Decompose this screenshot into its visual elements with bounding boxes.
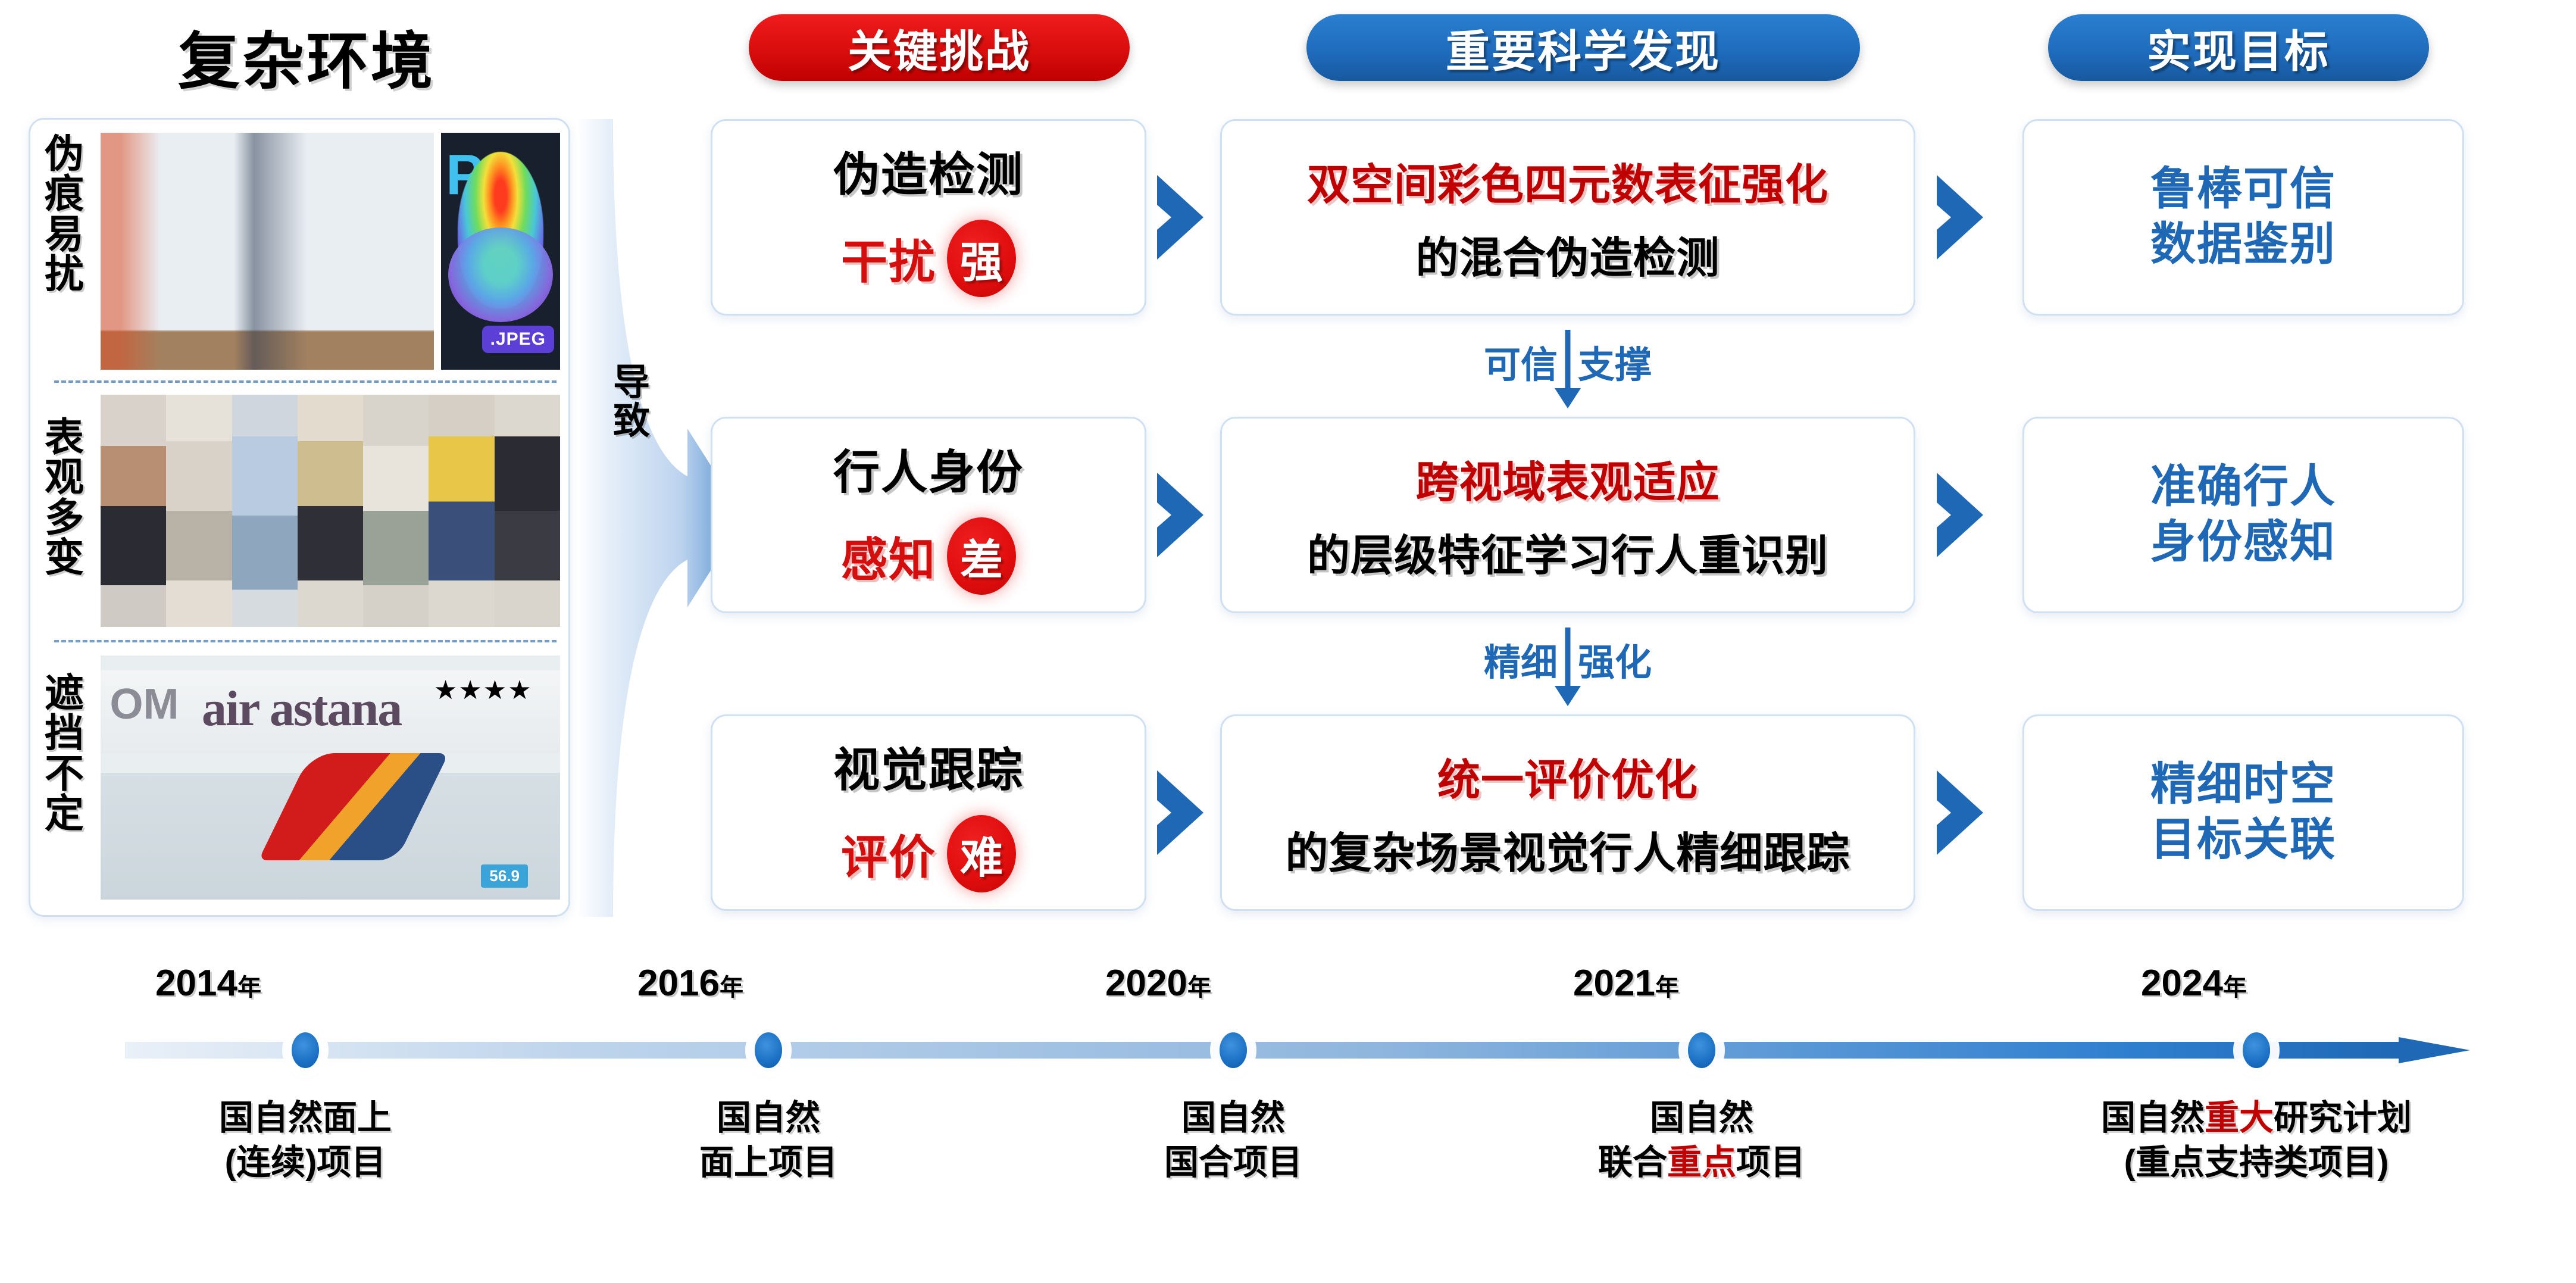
- timeline-desc-line2-pre-3: 联合: [1598, 1143, 1667, 1182]
- goal-card-1[interactable]: 准确行人 身份感知: [2022, 417, 2464, 613]
- discovery-card-2[interactable]: 统一评价优化 的复杂场景视觉行人精细跟踪: [1220, 714, 1915, 911]
- stars-icon: ★★★★: [434, 675, 533, 706]
- discovery-connector-0-text: 可信 支撑: [1401, 335, 1734, 388]
- timeline-desc-line1-4: 国自然重大研究计划: [2018, 1095, 2494, 1140]
- timeline-year-value-3: 2021: [1573, 963, 1655, 1004]
- timeline-desc-line1-hl-4: 重大: [2205, 1098, 2274, 1137]
- badge-key-challenge-label: 关键挑战: [848, 16, 1031, 80]
- timeline-desc-line1-post-4: 研究计划: [2274, 1098, 2412, 1137]
- timeline-desc-3: 国自然 联合重点项目: [1583, 1095, 1821, 1185]
- timeline-year-value-4: 2024: [2141, 963, 2223, 1004]
- discovery-highlight-2: 统一评价优化: [1437, 745, 1698, 807]
- timeline-year-4: 2024年: [2105, 962, 2283, 1004]
- timeline-desc-line2-hl-3: 重点: [1667, 1143, 1736, 1182]
- challenge-card-2[interactable]: 视觉跟踪 评价 难: [711, 714, 1146, 911]
- timeline-dot-4[interactable]: [2243, 1032, 2270, 1068]
- badge-goal: 实现目标: [2048, 14, 2429, 81]
- chevron-right-icon-0: [1153, 173, 1208, 262]
- timeline-year-suffix-4: 年: [2223, 975, 2247, 1001]
- challenge-subline-1: 感知 差: [841, 517, 1016, 595]
- chevron-right-icon-3: [1933, 173, 1988, 262]
- chevron-right-icon-5: [1933, 768, 1988, 857]
- challenge-subline-2: 评价 难: [841, 815, 1016, 892]
- timeline-year-suffix-2: 年: [1187, 975, 1211, 1001]
- timeline-desc-line2-2: 国合项目: [1114, 1140, 1352, 1185]
- challenge-mark-2: 难: [947, 815, 1016, 892]
- timeline-desc-line2-4: (重点支持类项目): [2018, 1140, 2494, 1185]
- goal-line1-0: 鲁棒可信: [2150, 162, 2336, 217]
- badge-goal-label: 实现目标: [2147, 16, 2330, 80]
- skater-figure: [258, 753, 449, 860]
- timeline-dot-1[interactable]: [755, 1032, 782, 1068]
- timeline-year-3: 2021年: [1537, 962, 1715, 1004]
- env-row-label-2: 遮挡不定: [39, 673, 90, 834]
- timeline-year-value-0: 2014: [155, 963, 237, 1004]
- timeline-year-suffix-0: 年: [237, 975, 261, 1001]
- timeline-desc-line2-post-3: 项目: [1736, 1143, 1805, 1182]
- timeline-axis: [125, 1037, 2470, 1063]
- discovery-connector-0-right: 支撑: [1578, 335, 1652, 388]
- ice-banner-text: air astana: [202, 680, 401, 738]
- discovery-highlight-1: 跨视域表观适应: [1415, 447, 1720, 510]
- ice-score-overlay: 56.9: [481, 864, 528, 888]
- chevron-right-icon-1: [1153, 470, 1208, 560]
- timeline-desc-1: 国自然 面上项目: [649, 1095, 887, 1185]
- slide-root: 复杂环境 关键挑战 重要科学发现 实现目标 伪痕易扰 PS .JPEG 表观多变: [0, 0, 2576, 1283]
- badge-scientific-discovery-label: 重要科学发现: [1446, 16, 1721, 80]
- badge-scientific-discovery: 重要科学发现: [1306, 14, 1860, 81]
- timeline-desc-line2-0: (连续)项目: [186, 1140, 424, 1185]
- discovery-connector-1-left: 精细: [1484, 632, 1558, 686]
- challenge-red-text-0: 干扰: [841, 225, 936, 292]
- env-row-label-1: 表观多变: [39, 417, 90, 577]
- challenge-red-text-2: 评价: [841, 820, 936, 887]
- timeline-year-suffix-3: 年: [1655, 975, 1679, 1001]
- timeline-dot-2[interactable]: [1220, 1032, 1247, 1068]
- challenge-red-text-1: 感知: [841, 523, 936, 589]
- timeline-desc-line2-3: 联合重点项目: [1583, 1140, 1821, 1185]
- goal-card-0[interactable]: 鲁棒可信 数据鉴别: [2022, 119, 2464, 316]
- timeline-year-value-1: 2016: [637, 963, 720, 1004]
- timeline-desc-0: 国自然面上 (连续)项目: [186, 1095, 424, 1185]
- discovery-rest-1: 的层级特征学习行人重识别: [1307, 520, 1828, 583]
- challenge-mark-1: 差: [947, 517, 1016, 595]
- discovery-connector-0-left: 可信: [1484, 335, 1558, 388]
- badge-key-challenge: 关键挑战: [749, 14, 1130, 81]
- env-image-speed-skating: OM air astana ★★★★ 56.9: [101, 655, 560, 900]
- timeline-year-suffix-1: 年: [720, 975, 743, 1001]
- timeline-desc-line1-pre-4: 国自然: [2101, 1098, 2205, 1137]
- timeline-year-0: 2014年: [119, 962, 298, 1004]
- challenge-title-1: 行人身份: [833, 435, 1024, 502]
- timeline-desc-line1-2: 国自然: [1114, 1095, 1352, 1140]
- jpeg-badge: .JPEG: [482, 326, 554, 353]
- discovery-rest-2: 的复杂场景视觉行人精细跟踪: [1285, 818, 1850, 881]
- discovery-rest-0: 的混合伪造检测: [1415, 223, 1720, 285]
- timeline-dot-3[interactable]: [1688, 1032, 1715, 1068]
- timeline-year-2: 2020年: [1069, 962, 1248, 1004]
- timeline-desc-line1-1: 国自然: [649, 1095, 887, 1140]
- goal-line2-0: 数据鉴别: [2150, 217, 2336, 273]
- discovery-card-1[interactable]: 跨视域表观适应 的层级特征学习行人重识别: [1220, 417, 1915, 613]
- env-divider-0: [54, 380, 557, 383]
- challenge-mark-0: 强: [947, 220, 1016, 297]
- goal-line2-2: 目标关联: [2150, 813, 2336, 868]
- challenge-card-0[interactable]: 伪造检测 干扰 强: [711, 119, 1146, 316]
- cause-arrow-label: 导致: [599, 363, 664, 441]
- gaussian-skirt-icon: [448, 227, 553, 322]
- challenge-title-2: 视觉跟踪: [833, 733, 1024, 800]
- timeline-desc-2: 国自然 国合项目: [1114, 1095, 1352, 1185]
- discovery-connector-1-text: 精细 强化: [1401, 632, 1734, 686]
- goal-line1-2: 精细时空: [2150, 757, 2336, 813]
- discovery-connector-0: 可信 支撑: [1401, 330, 1734, 408]
- discovery-highlight-0: 双空间彩色四元数表征强化: [1307, 149, 1828, 212]
- timeline-year-value-2: 2020: [1105, 963, 1187, 1004]
- challenge-card-1[interactable]: 行人身份 感知 差: [711, 417, 1146, 613]
- env-image-forgery-photo: [101, 133, 434, 370]
- env-image-jpeg-spectrum: PS .JPEG: [441, 133, 560, 370]
- challenge-title-0: 伪造检测: [833, 138, 1024, 204]
- goal-card-2[interactable]: 精细时空 目标关联: [2022, 714, 2464, 911]
- chevron-right-icon-4: [1933, 470, 1988, 560]
- chevron-right-icon-2: [1153, 768, 1208, 857]
- timeline-dot-0[interactable]: [292, 1032, 319, 1068]
- environment-panel: 伪痕易扰 PS .JPEG 表观多变 遮挡不定 OM air astana ★★: [29, 118, 570, 917]
- ice-banner-text-left: OM: [110, 680, 179, 729]
- discovery-connector-1: 精细 强化: [1401, 628, 1734, 706]
- timeline-desc-line2-1: 面上项目: [649, 1140, 887, 1185]
- timeline-year-1: 2016年: [601, 962, 780, 1004]
- timeline-desc-4: 国自然重大研究计划 (重点支持类项目): [2018, 1095, 2494, 1185]
- env-row-label-0: 伪痕易扰: [39, 134, 90, 294]
- discovery-connector-1-right: 强化: [1578, 632, 1652, 686]
- page-title: 复杂环境: [89, 11, 524, 101]
- goal-line1-1: 准确行人: [2150, 460, 2336, 515]
- goal-line2-1: 身份感知: [2150, 515, 2336, 570]
- challenge-subline-0: 干扰 强: [841, 220, 1016, 297]
- env-divider-1: [54, 640, 557, 642]
- discovery-card-0[interactable]: 双空间彩色四元数表征强化 的混合伪造检测: [1220, 119, 1915, 316]
- env-image-pedestrian-gallery: [101, 395, 560, 627]
- timeline-desc-line1-0: 国自然面上: [186, 1095, 424, 1140]
- timeline-desc-line1-3: 国自然: [1583, 1095, 1821, 1140]
